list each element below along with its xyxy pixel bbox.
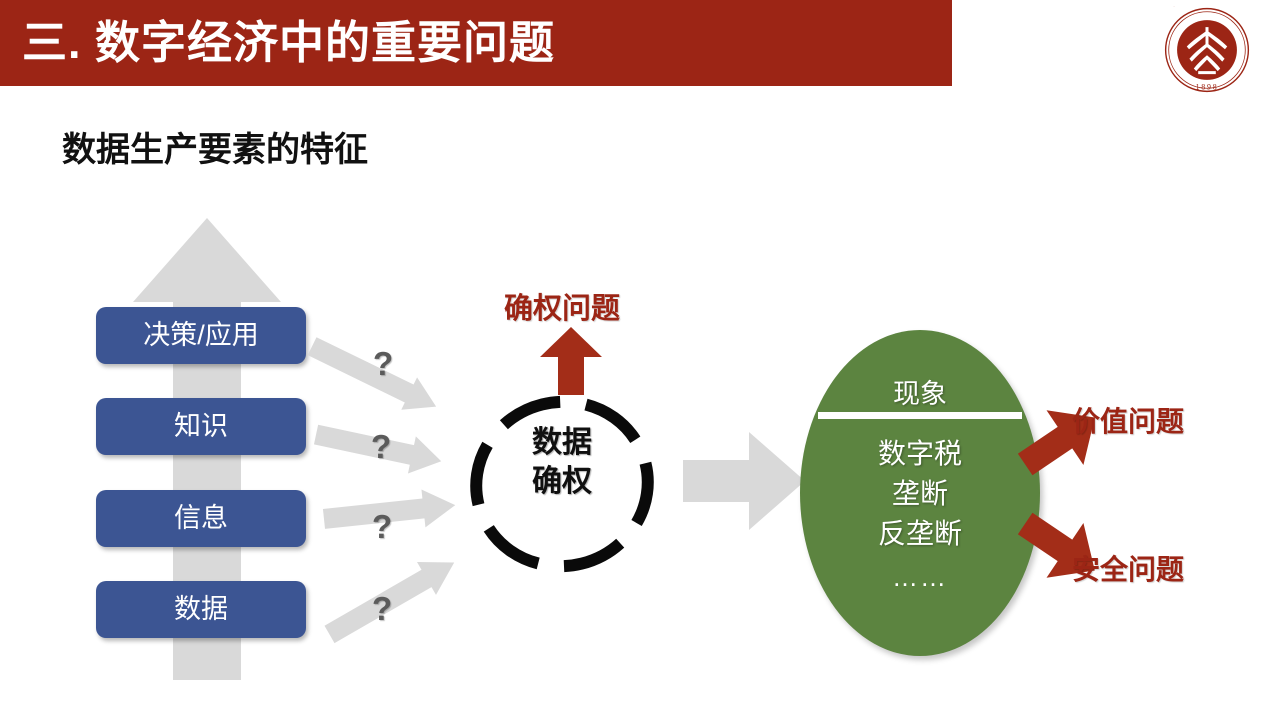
peking-university-logo: 1898 PEKING UNIVERSITY xyxy=(1163,6,1251,94)
ladder-item-knowledge[interactable]: 知识 xyxy=(96,398,306,455)
rights-issue-label: 确权问题 xyxy=(504,285,620,327)
svg-text:PEKING UNIVERSITY: PEKING UNIVERSITY xyxy=(1169,6,1243,7)
right-arrow-icon xyxy=(683,432,805,530)
ladder-item-data[interactable]: 数据 xyxy=(96,581,306,638)
phenomena-heading: 现象 xyxy=(800,372,1040,411)
page-title: 三. 数字经济中的重要问题 xyxy=(22,12,922,74)
phenomena-ellipsis: …… xyxy=(800,562,1040,593)
phenomena-item-list: 数字税 垄断 反垄断 xyxy=(800,434,1040,554)
phenomena-item-2: 反垄断 xyxy=(800,514,1040,554)
circle-label-line1: 数据 xyxy=(492,423,632,462)
section-subtitle: 数据生产要素的特征 xyxy=(62,122,368,171)
outcome-label-security: 安全问题 xyxy=(1072,548,1184,588)
phenomena-divider xyxy=(818,412,1022,419)
outcome-label-value: 价值问题 xyxy=(1072,400,1184,440)
ladder-item-decision[interactable]: 决策/应用 xyxy=(96,307,306,364)
phenomena-item-1: 垄断 xyxy=(800,474,1040,514)
question-mark-icon-3: ? xyxy=(372,590,392,628)
red-up-arrow-icon xyxy=(540,327,602,395)
question-mark-icon-1: ? xyxy=(371,428,391,466)
circle-label-line2: 确权 xyxy=(492,462,632,501)
question-mark-icon-2: ? xyxy=(372,508,392,546)
ladder-item-information[interactable]: 信息 xyxy=(96,490,306,547)
svg-text:1898: 1898 xyxy=(1196,83,1219,92)
circle-label: 数据 确权 xyxy=(492,423,632,501)
question-mark-icon-0: ? xyxy=(373,345,393,383)
slide-canvas: 三. 数字经济中的重要问题 1898 PEKING UNIVERSITY xyxy=(0,0,1266,718)
phenomena-item-0: 数字税 xyxy=(800,434,1040,474)
